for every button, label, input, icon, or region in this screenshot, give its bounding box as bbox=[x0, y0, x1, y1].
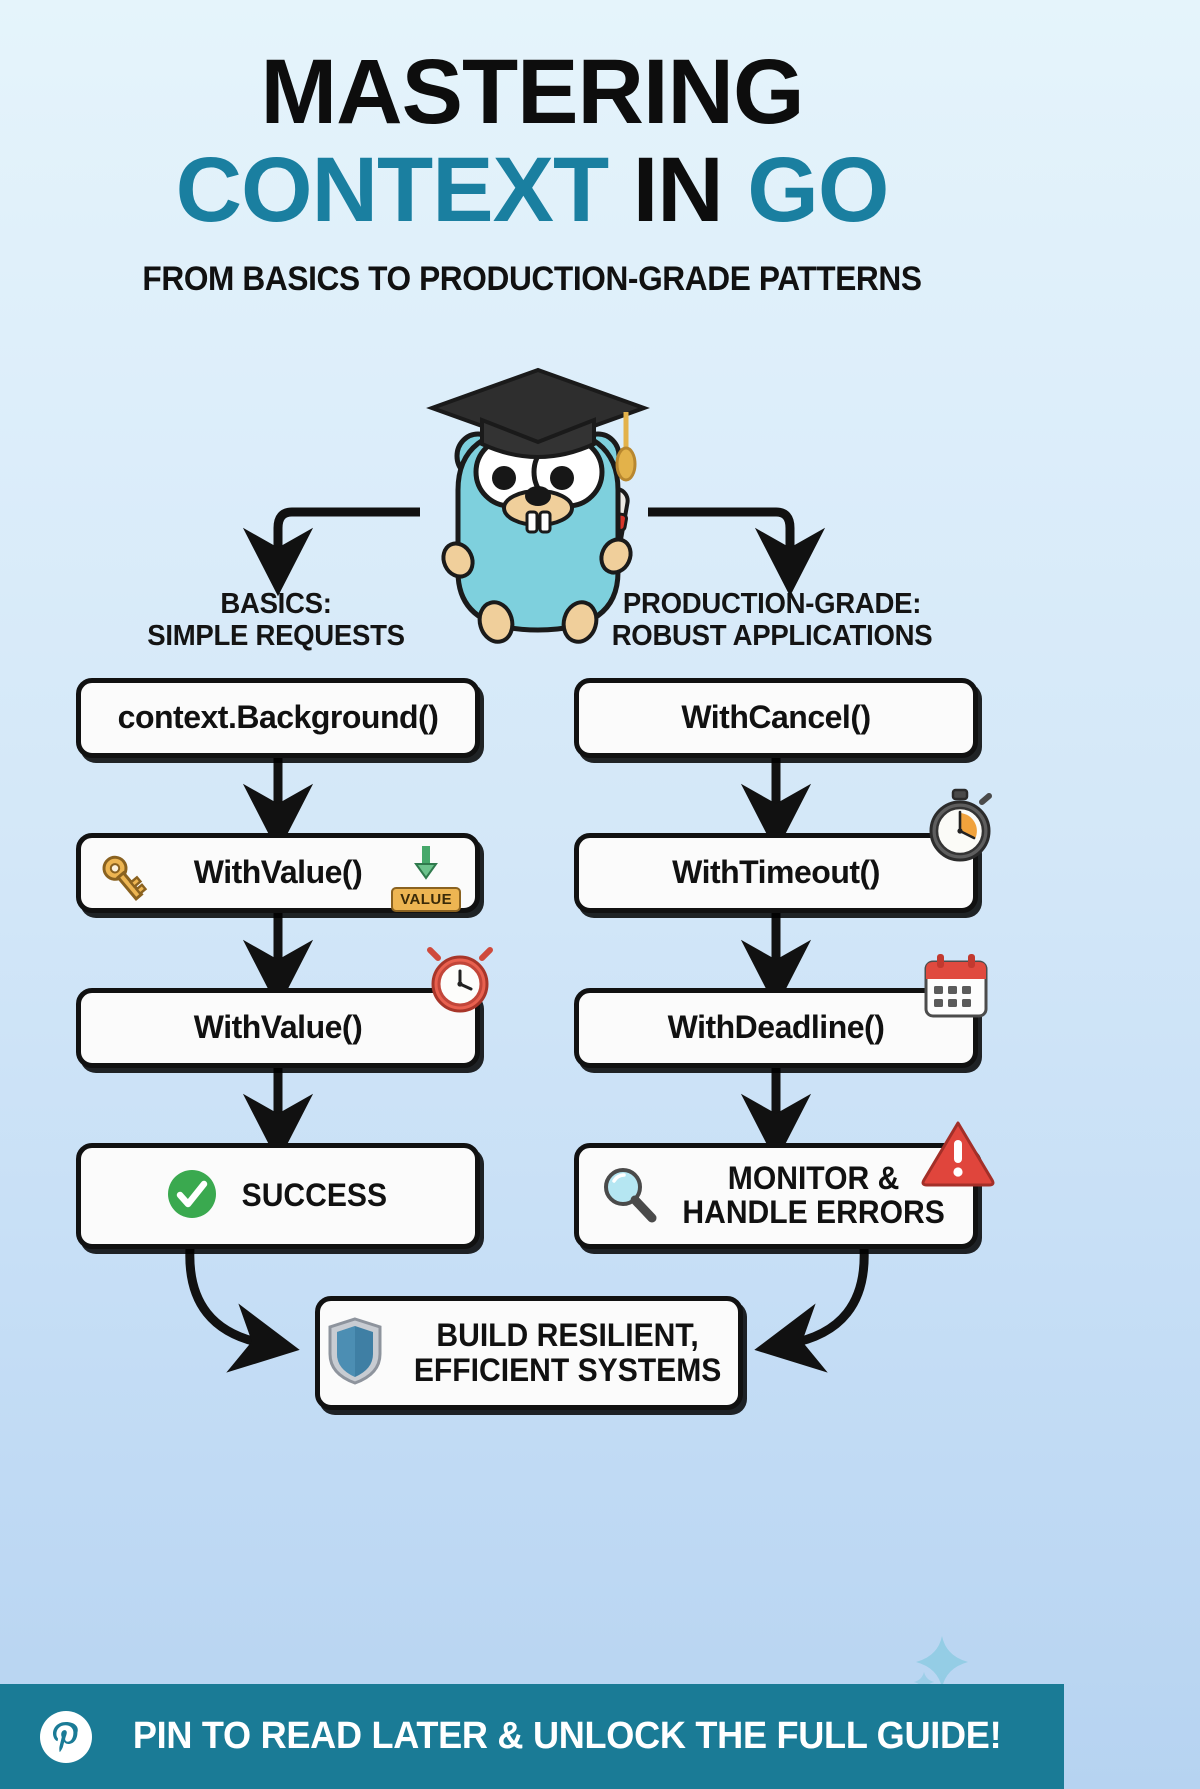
node-label: WithDeadline() bbox=[668, 1010, 885, 1045]
node-label: WithTimeout() bbox=[672, 855, 880, 890]
caption-production-line2: ROBUST APPLICATIONS bbox=[582, 620, 962, 652]
title-word-go: GO bbox=[747, 139, 888, 241]
flow-node-with-value-key[interactable]: WithValue() VALUE bbox=[76, 833, 480, 913]
warning-triangle-icon bbox=[920, 1118, 996, 1193]
value-badge-icon: VALUE bbox=[391, 844, 461, 912]
infographic-poster: MASTERING CONTEXT IN GO FROM BASICS TO P… bbox=[0, 0, 1064, 1789]
final-label-line1: BUILD RESILIENT, bbox=[414, 1318, 722, 1353]
node-label: BUILD RESILIENT, EFFICIENT SYSTEMS bbox=[414, 1318, 722, 1387]
pinterest-icon bbox=[40, 1711, 92, 1763]
flow-node-with-value-clock[interactable]: WithValue() bbox=[76, 988, 480, 1068]
title-word-in: IN bbox=[633, 139, 723, 241]
caption-basics-line2: SIMPLE REQUESTS bbox=[86, 620, 466, 652]
caption-production-line1: PRODUCTION-GRADE: bbox=[582, 588, 962, 620]
check-circle-icon bbox=[165, 1167, 219, 1226]
final-label-line2: EFFICIENT SYSTEMS bbox=[414, 1353, 722, 1388]
page-title-line2: CONTEXT IN GO bbox=[0, 144, 1064, 238]
page-title-line1: MASTERING bbox=[0, 48, 1064, 136]
caption-basics-line1: BASICS: bbox=[86, 588, 466, 620]
value-badge-text: VALUE bbox=[391, 887, 461, 912]
node-label-line2: HANDLE ERRORS bbox=[683, 1196, 945, 1230]
flow-node-success[interactable]: SUCCESS bbox=[76, 1143, 480, 1249]
flow-node-build-resilient[interactable]: BUILD RESILIENT, EFFICIENT SYSTEMS bbox=[315, 1296, 743, 1410]
flow-node-with-cancel[interactable]: WithCancel() bbox=[574, 678, 978, 758]
calendar-icon bbox=[920, 950, 992, 1027]
flow-node-monitor-handle-errors[interactable]: MONITOR & HANDLE ERRORS bbox=[574, 1143, 978, 1249]
column-caption-production: PRODUCTION-GRADE: ROBUST APPLICATIONS bbox=[582, 588, 962, 653]
flow-node-with-timeout[interactable]: WithTimeout() bbox=[574, 833, 978, 913]
magnifier-icon bbox=[598, 1163, 660, 1230]
footer-cta-text: PIN TO READ LATER & UNLOCK THE FULL GUID… bbox=[133, 1715, 1001, 1758]
node-label: MONITOR & HANDLE ERRORS bbox=[683, 1162, 945, 1230]
key-icon bbox=[95, 850, 153, 913]
title-word-context: CONTEXT bbox=[176, 139, 609, 241]
stopwatch-icon bbox=[920, 786, 1000, 871]
node-label: SUCCESS bbox=[241, 1178, 386, 1213]
column-caption-basics: BASICS: SIMPLE REQUESTS bbox=[86, 588, 466, 653]
page-subtitle: FROM BASICS TO PRODUCTION-GRADE PATTERNS bbox=[37, 260, 1027, 299]
flow-node-context-background[interactable]: context.Background() bbox=[76, 678, 480, 758]
node-label: context.Background() bbox=[118, 700, 439, 735]
node-label: WithValue() bbox=[194, 855, 362, 890]
node-label: WithValue() bbox=[194, 1010, 362, 1045]
alarm-clock-icon bbox=[422, 944, 498, 1025]
shield-icon bbox=[326, 1316, 384, 1391]
poster-header: MASTERING CONTEXT IN GO FROM BASICS TO P… bbox=[0, 0, 1064, 299]
footer-cta-banner[interactable]: PIN TO READ LATER & UNLOCK THE FULL GUID… bbox=[0, 1684, 1064, 1789]
node-label: WithCancel() bbox=[681, 700, 870, 735]
node-label-line1: MONITOR & bbox=[683, 1162, 945, 1196]
flow-node-with-deadline[interactable]: WithDeadline() bbox=[574, 988, 978, 1068]
